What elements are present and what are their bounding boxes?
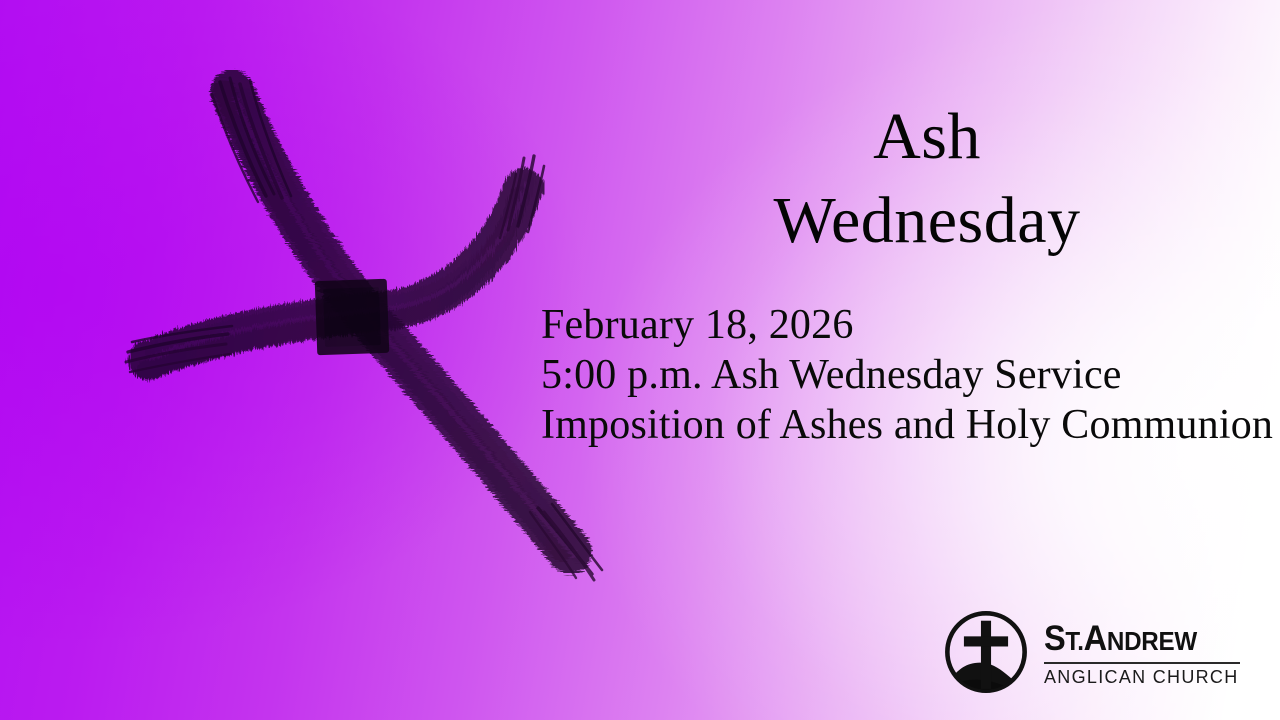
title-line-wednesday: Wednesday [564,188,1280,254]
page-title: Ash Wednesday [600,104,1280,254]
logo-name-main: ANDREW [1084,619,1197,658]
circle-cross-hill-icon [940,606,1032,698]
detail-date: February 18, 2026 [541,300,1273,350]
logo-subtitle: ANGLICAN CHURCH [1044,667,1240,687]
service-details: February 18, 2026 5:00 p.m. Ash Wednesda… [541,300,1273,450]
logo-name: ST.ANDREW [1044,621,1226,659]
church-logo: ST.ANDREW ANGLICAN CHURCH [940,606,1240,698]
logo-wordmark: ST.ANDREW ANGLICAN CHURCH [1044,617,1240,687]
ash-cross-intersection [315,279,390,355]
title-line-ash: Ash [564,104,1280,170]
logo-divider [1044,662,1240,664]
logo-name-prefix: ST. [1044,619,1084,658]
detail-service-description: Imposition of Ashes and Holy Communion [541,400,1273,450]
ash-wednesday-slide: Ash Wednesday February 18, 2026 5:00 p.m… [0,0,1280,720]
detail-service-time: 5:00 p.m. Ash Wednesday Service [541,350,1273,400]
